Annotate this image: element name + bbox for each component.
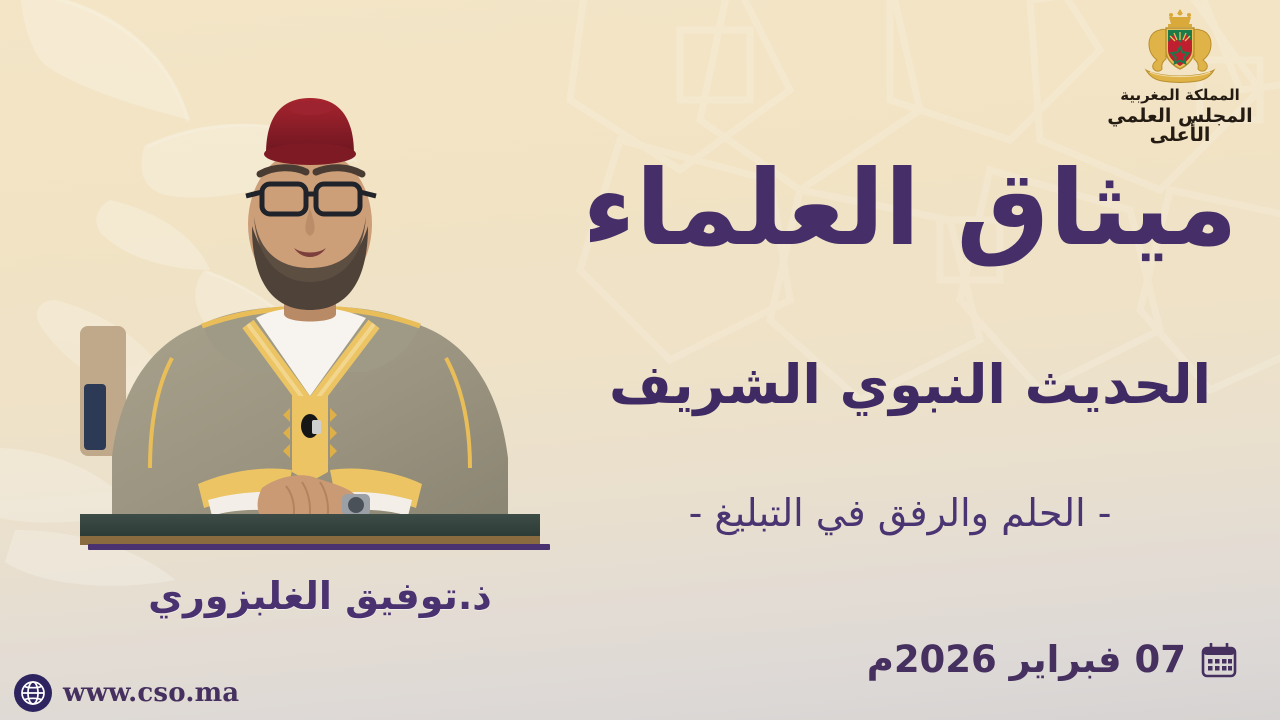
- speaker-name: ذ.توفيق الغلبزوري: [0, 574, 640, 618]
- council-logo: المملكة المغربية المجلس العلمي الأعلى: [1096, 6, 1264, 148]
- broadcast-slide: المملكة المغربية المجلس العلمي الأعلى: [0, 0, 1280, 720]
- globe-icon: [14, 674, 52, 712]
- morocco-coat-of-arms-icon: [1138, 6, 1222, 86]
- episode-topic: - الحلم والرفق في التبليغ -: [600, 492, 1200, 536]
- logo-kingdom-label: المملكة المغربية: [1096, 88, 1264, 103]
- website-block[interactable]: www.cso.ma: [14, 674, 239, 712]
- program-title: ميثاق العلماء: [580, 152, 1240, 264]
- program-subtitle: الحديث النبوي الشريف: [580, 355, 1240, 414]
- speaker-divider-rule: [88, 544, 550, 550]
- calendar-icon: [1200, 640, 1238, 680]
- speaker-photo: [80, 96, 540, 548]
- logo-council-label: المجلس العلمي الأعلى: [1096, 107, 1264, 145]
- date-block: 07 فبراير 2026م: [867, 638, 1238, 681]
- broadcast-date: 07 فبراير 2026م: [867, 638, 1186, 681]
- website-url[interactable]: www.cso.ma: [63, 678, 239, 708]
